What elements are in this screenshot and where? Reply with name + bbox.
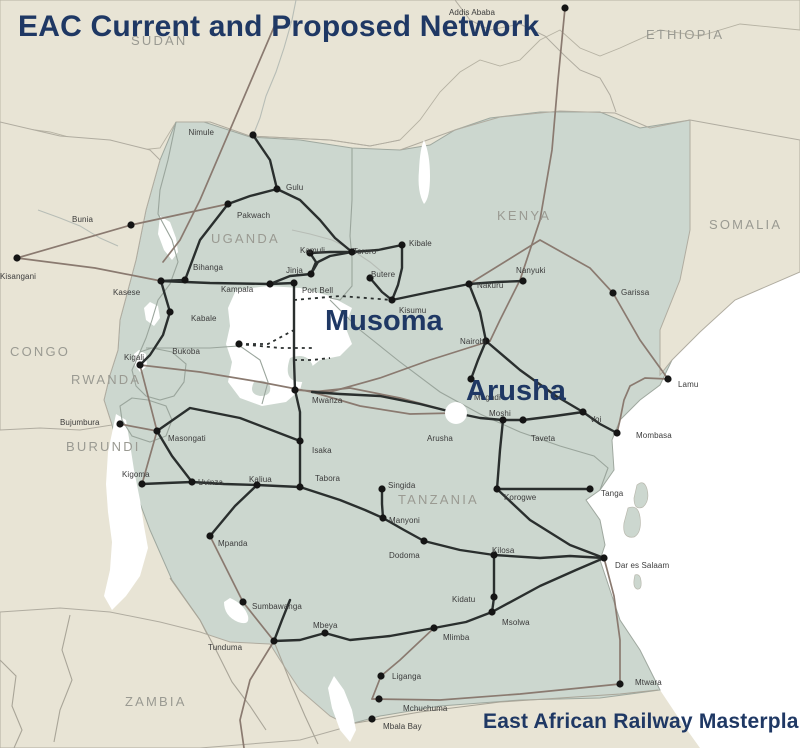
city-label-dodoma: Dodoma [389, 551, 420, 560]
rail-node-korogwe [493, 485, 500, 492]
rail-node-nimule [249, 131, 256, 138]
rail-node-kigali [136, 361, 143, 368]
city-label-pakwach: Pakwach [237, 211, 270, 220]
rail-node-isaka [296, 437, 303, 444]
city-label-mlimba: Mlimba [443, 633, 469, 642]
city-label-uvinza: Uvinza [198, 478, 223, 487]
island-mafia [634, 575, 641, 590]
rail-node-kidatu [490, 593, 497, 600]
rail-node-kibale [398, 241, 405, 248]
highlighted-city-arusha: Arusha [466, 375, 566, 408]
city-label-kidatu: Kidatu [452, 595, 475, 604]
rail-node-dodoma [420, 537, 427, 544]
musoma-port-marker [306, 325, 318, 337]
city-label-dar-es-salaam: Dar es Salaam [615, 561, 669, 570]
rail-node-kampala [266, 280, 273, 287]
city-label-kampala: Kampala [221, 285, 253, 294]
rail-node-sumbawanga [239, 598, 246, 605]
city-label-port-bell: Port Bell [302, 286, 333, 295]
city-label-gulu: Gulu [286, 183, 303, 192]
country-label-kenya: KENYA [497, 208, 551, 223]
city-label-tanga: Tanga [601, 489, 623, 498]
city-label-kamuli: Kamuli [300, 246, 325, 255]
city-label-kilosa: Kilosa [492, 546, 514, 555]
city-label-taveta: Taveta [531, 434, 555, 443]
map-title: EAC Current and Proposed Network [18, 10, 539, 44]
city-label-garissa: Garissa [621, 288, 649, 297]
city-label-kabale: Kabale [191, 314, 217, 323]
country-label-congo: CONGO [10, 344, 70, 359]
city-label-nanyuki: Nanyuki [516, 266, 546, 275]
rail-node-kabale [166, 308, 173, 315]
rail-node-addis-ababa [561, 4, 568, 11]
city-label-arusha: Arusha [427, 434, 453, 443]
city-label-manyoni: Manyoni [389, 516, 420, 525]
city-label-mombasa: Mombasa [636, 431, 672, 440]
city-label-lamu: Lamu [678, 380, 698, 389]
rail-node-mtwara [616, 680, 623, 687]
country-label-uganda: UGANDA [211, 231, 280, 246]
city-label-masongati: Masongati [168, 434, 206, 443]
country-label-burundi: BURUNDI [66, 439, 141, 454]
city-label-moshi: Moshi [489, 409, 511, 418]
rail-node-masongati [153, 427, 160, 434]
city-label-isaka: Isaka [312, 446, 332, 455]
city-label-bukoba: Bukoba [172, 347, 200, 356]
city-label-singida: Singida [388, 481, 415, 490]
rail-node-msolwa [488, 608, 495, 615]
rail-node-mpanda [206, 532, 213, 539]
rail-node-kasese [157, 277, 164, 284]
city-label-kasese: Kasese [113, 288, 140, 297]
highlighted-city-musoma: Musoma [325, 305, 443, 338]
rail-node-pakwach [224, 200, 231, 207]
rail-node-liganga [377, 672, 384, 679]
city-label-kigoma: Kigoma [122, 470, 150, 479]
map-footer-caption: East African Railway Masterplan [483, 710, 800, 734]
rail-node-kisumu [388, 296, 395, 303]
country-label-rwanda: RWANDA [71, 372, 141, 387]
rail-node-manyoni [379, 514, 386, 521]
city-label-kibale: Kibale [409, 239, 432, 248]
city-label-liganga: Liganga [392, 672, 421, 681]
rail-node-bunia [127, 221, 134, 228]
country-label-tanzania: TANZANIA [398, 492, 479, 507]
arusha-highlight-dot [445, 402, 467, 424]
city-label-tabora: Tabora [315, 474, 340, 483]
city-label-korogwe: Korogwe [504, 493, 536, 502]
rail-node-mchuchuma [375, 695, 382, 702]
rail-node-dar-es-salaam [600, 554, 607, 561]
city-label-bihanga: Bihanga [193, 263, 223, 272]
country-label-ethiopia: ETHIOPIA [646, 27, 724, 42]
rail-node-mbeya [321, 629, 328, 636]
country-label-zambia: ZAMBIA [125, 694, 187, 709]
rail-node-kigoma [138, 480, 145, 487]
city-label-mbeya: Mbeya [313, 621, 338, 630]
city-label-bunia: Bunia [72, 215, 93, 224]
city-label-tunduma: Tunduma [208, 643, 242, 652]
city-label-kaliua: Kaliua [249, 475, 272, 484]
city-label-mchuchuma: Mchuchuma [403, 704, 447, 713]
rail-node-port-bell [290, 279, 297, 286]
rail-node-singida [378, 485, 385, 492]
rail-node-tabora [296, 483, 303, 490]
rail-node-lamu [664, 375, 671, 382]
city-label-sumbawanga: Sumbawanga [252, 602, 302, 611]
city-label-nairobi: Nairobi [460, 337, 486, 346]
city-label-jinja: Jinja [286, 266, 303, 275]
rail-node-bujumbura [116, 420, 123, 427]
rail-node-garissa [609, 289, 616, 296]
rail-node-uvinza [188, 478, 195, 485]
rail-node-mombasa [613, 429, 620, 436]
city-label-butere: Butere [371, 270, 395, 279]
city-label-tororo: Tororo [353, 247, 376, 256]
rail-node-nakuru [465, 280, 472, 287]
rail-node-mbala-bay [368, 715, 375, 722]
city-label-mbala-bay: Mbala Bay [383, 722, 422, 731]
city-label-kigali: Kigali [124, 353, 144, 362]
city-label-nimule: Nimule [189, 128, 215, 137]
rail-node-kisangani [13, 254, 20, 261]
rail-node-tunduma [270, 637, 277, 644]
rail-node-jinja [307, 270, 314, 277]
city-label-kisangani: Kisangani [0, 272, 36, 281]
rail-node-nanyuki [519, 277, 526, 284]
city-label-mwanza: Mwanza [312, 396, 342, 405]
rail-node-voi [579, 408, 586, 415]
rail-node-gulu [273, 185, 280, 192]
map-container: SUDANETHIOPIASOMALIAKENYAUGANDACONGORWAN… [0, 0, 800, 748]
city-label-msolwa: Msolwa [502, 618, 530, 627]
rail-node-taveta [519, 416, 526, 423]
rail-node-mlimba [430, 624, 437, 631]
rail-node-bukoba [235, 340, 242, 347]
city-label-voi: Voi [590, 415, 601, 424]
city-label-mpanda: Mpanda [218, 539, 248, 548]
country-label-somalia: SOMALIA [709, 217, 782, 232]
city-label-nakuru: Nakuru [477, 281, 503, 290]
rail-node-bihanga [181, 276, 188, 283]
rail-node-mwanza [291, 386, 298, 393]
rail-node-tanga [586, 485, 593, 492]
rail-manyoni-singida [382, 489, 383, 518]
city-label-mtwara: Mtwara [635, 678, 662, 687]
city-label-bujumbura: Bujumbura [60, 418, 100, 427]
